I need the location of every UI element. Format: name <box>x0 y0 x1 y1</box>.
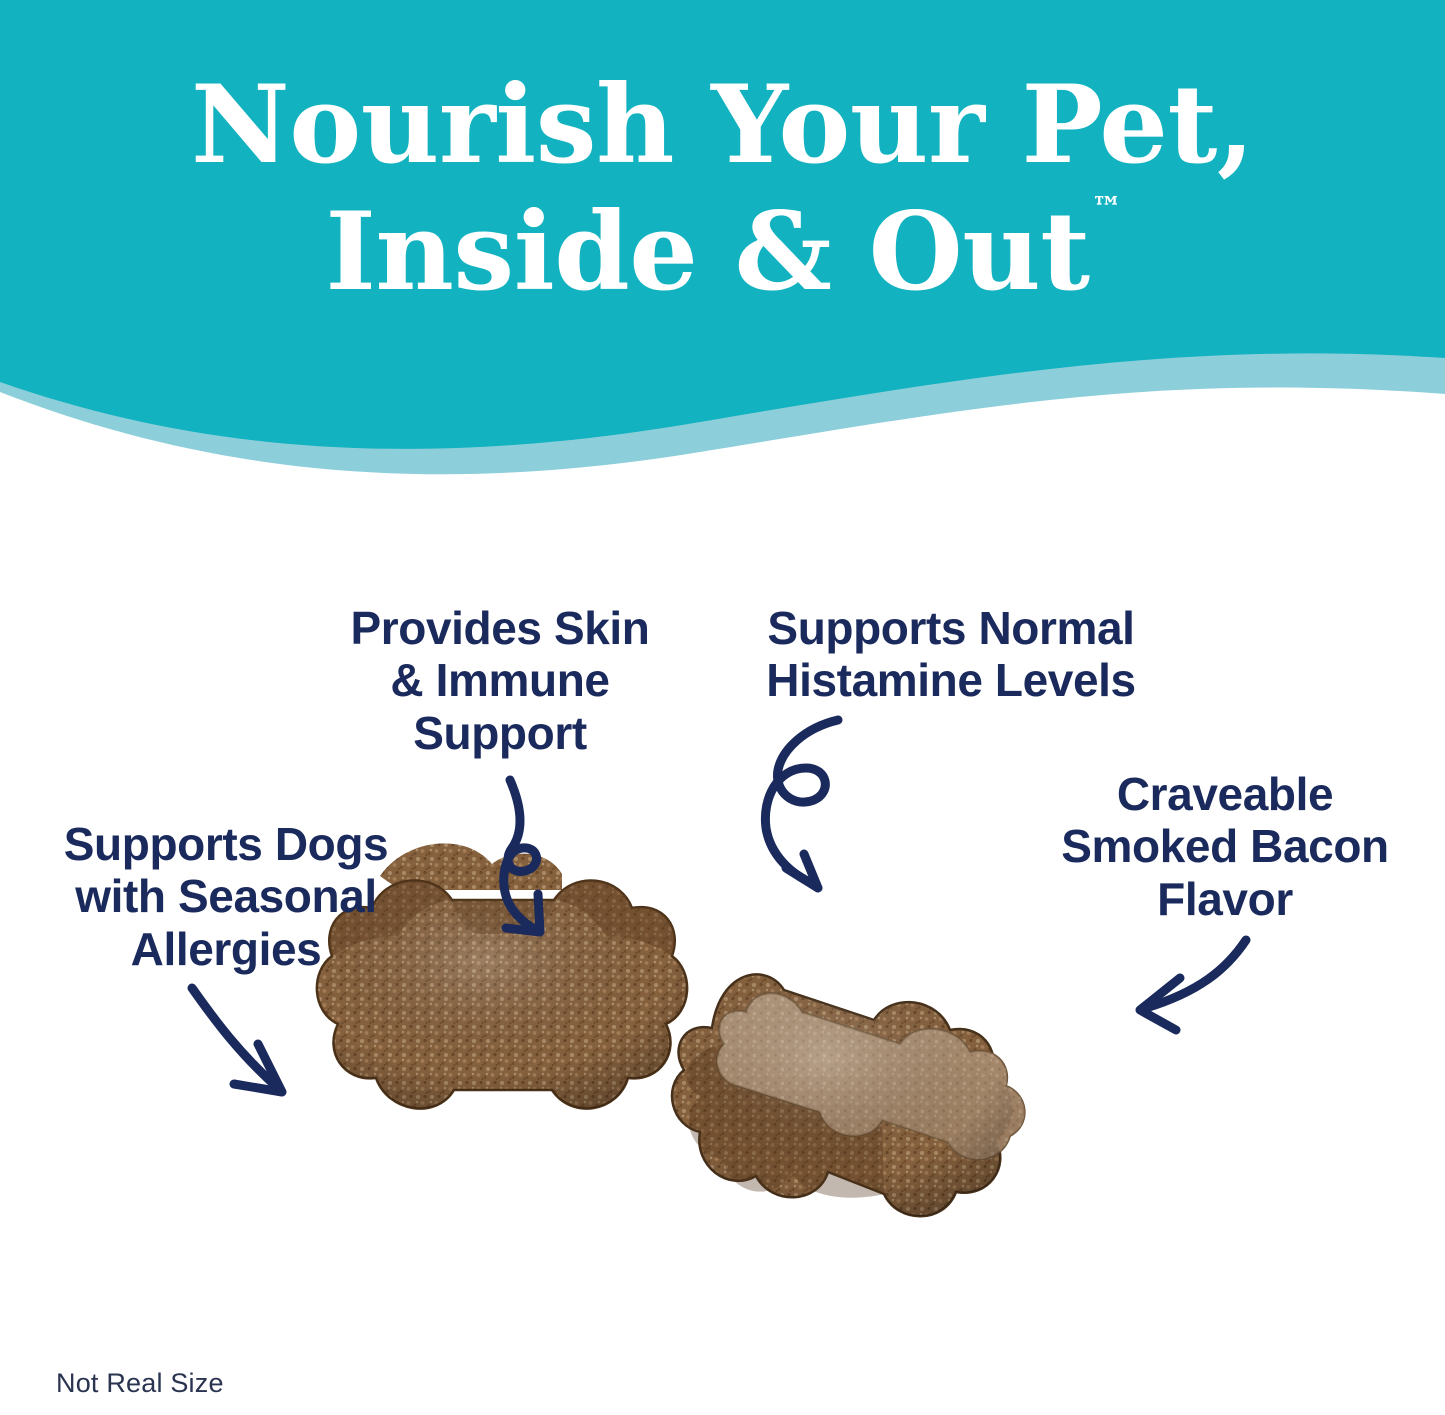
callout-allergies-line-1: Supports Dogs <box>16 818 436 870</box>
trademark-symbol: ™ <box>1092 191 1122 226</box>
arrow-allergies-head <box>234 1044 282 1092</box>
page-title-line-1: Nourish Your Pet, <box>0 62 1445 189</box>
page-title-line-2-wrap: Inside & Out™ <box>325 189 1119 316</box>
callout-skin-immune-line-3: Support <box>300 707 700 759</box>
callout-allergies-line-2: with Seasonal <box>16 870 436 922</box>
callout-histamine-line-2: Histamine Levels <box>716 654 1186 706</box>
callout-allergies-line-3: Allergies <box>16 923 436 975</box>
callout-skin-immune-line-1: Provides Skin <box>300 602 700 654</box>
header-band: Nourish Your Pet, Inside & Out™ <box>0 0 1445 475</box>
callout-skin-immune-support: Provides Skin & Immune Support <box>300 602 700 759</box>
callout-histamine-line-1: Supports Normal <box>716 602 1186 654</box>
callout-bacon-line-1: Craveable <box>1010 768 1440 820</box>
callout-histamine-levels: Supports Normal Histamine Levels <box>716 602 1186 707</box>
dog-bone-treat-right <box>672 974 1025 1216</box>
product-infographic: Nourish Your Pet, Inside & Out™ <box>0 0 1445 1415</box>
not-real-size-disclaimer: Not Real Size <box>56 1368 224 1399</box>
arrow-allergies-path <box>192 988 278 1088</box>
callout-bacon-flavor: Craveable Smoked Bacon Flavor <box>1010 768 1440 925</box>
page-title-line-2: Inside & Out <box>325 189 1089 315</box>
callout-seasonal-allergies: Supports Dogs with Seasonal Allergies <box>16 818 436 975</box>
callout-bacon-line-2: Smoked Bacon <box>1010 820 1440 872</box>
page-title: Nourish Your Pet, Inside & Out™ <box>0 62 1445 317</box>
callout-skin-immune-line-2: & Immune <box>300 654 700 706</box>
callout-bacon-line-3: Flavor <box>1010 873 1440 925</box>
